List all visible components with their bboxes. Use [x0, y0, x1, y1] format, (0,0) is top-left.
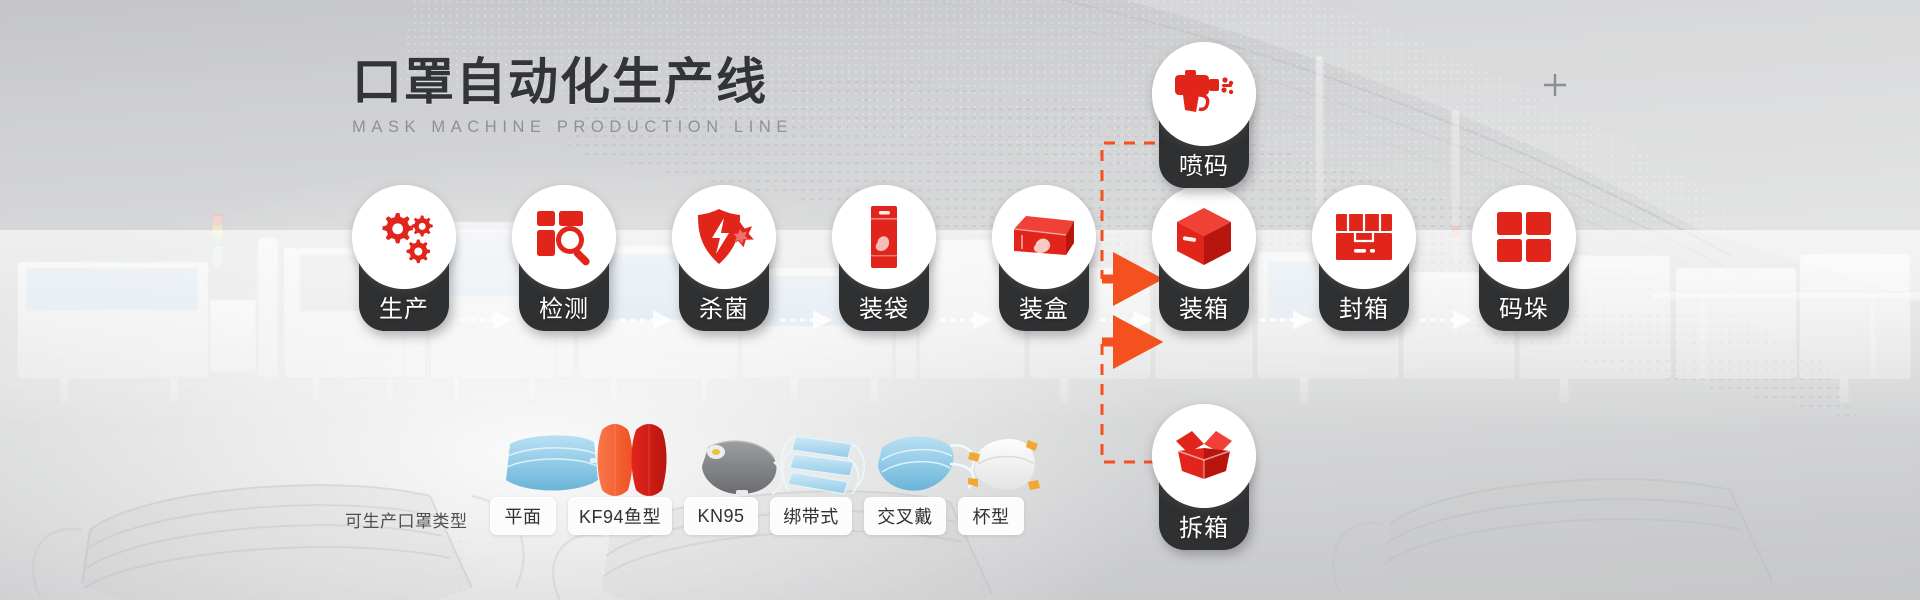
- mask-type-tag[interactable]: 绑带式: [770, 497, 852, 535]
- mask-type-tag[interactable]: KF94鱼型: [568, 497, 672, 535]
- mask-type-tag[interactable]: KN95: [684, 497, 758, 535]
- mask-type-tag[interactable]: 交叉戴: [864, 497, 946, 535]
- mask-types-label: 可生产口罩类型: [345, 507, 468, 532]
- mask-type-tag[interactable]: 杯型: [958, 497, 1024, 535]
- banner-stage: 口罩自动化生产线 MASK MACHINE PRODUCTION LINE: [0, 0, 1920, 600]
- mask-type-tag[interactable]: 平面: [490, 497, 556, 535]
